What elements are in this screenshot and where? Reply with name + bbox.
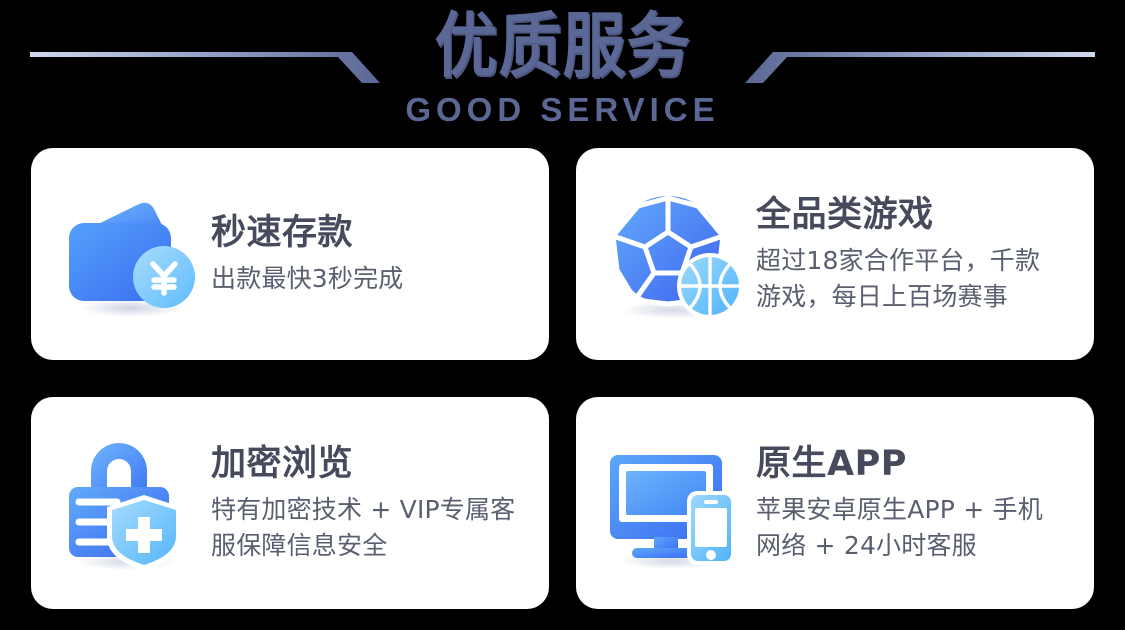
- lock-shield-icon: [57, 429, 205, 577]
- page-header: 优质服务 GOOD SERVICE: [0, 0, 1125, 142]
- card-text-block: 原生APP 苹果安卓原生APP + 手机 网络 + 24小时客服: [750, 442, 1082, 564]
- card-subtitle-line: 出款最快3秒完成: [211, 261, 537, 297]
- card-title: 秒速存款: [211, 211, 537, 255]
- card-subtitle: 出款最快3秒完成: [211, 261, 537, 297]
- card-subtitle-line: 服保障信息安全: [211, 528, 537, 564]
- card-text-block: 加密浏览 特有加密技术 + VIP专属客 服保障信息安全: [205, 442, 537, 564]
- card-subtitle-line: 超过18家合作平台，千款: [756, 243, 1082, 279]
- soccer-basketball-icon: [602, 180, 750, 328]
- card-title: 原生APP: [756, 442, 1082, 486]
- service-card-native-app[interactable]: 原生APP 苹果安卓原生APP + 手机 网络 + 24小时客服: [576, 397, 1094, 609]
- card-subtitle: 苹果安卓原生APP + 手机 网络 + 24小时客服: [756, 492, 1082, 564]
- card-text-block: 秒速存款 出款最快3秒完成: [205, 211, 537, 297]
- service-card-deposit[interactable]: 秒速存款 出款最快3秒完成: [31, 148, 549, 360]
- page-title-en: GOOD SERVICE: [0, 92, 1125, 128]
- wallet-yen-icon: [57, 180, 205, 328]
- page-title-cn: 优质服务: [0, 4, 1125, 89]
- card-subtitle: 特有加密技术 + VIP专属客 服保障信息安全: [211, 492, 537, 564]
- card-subtitle-line: 网络 + 24小时客服: [756, 528, 1082, 564]
- card-text-block: 全品类游戏 超过18家合作平台，千款 游戏，每日上百场赛事: [750, 193, 1082, 315]
- service-card-grid: 秒速存款 出款最快3秒完成: [31, 148, 1094, 609]
- service-card-games[interactable]: 全品类游戏 超过18家合作平台，千款 游戏，每日上百场赛事: [576, 148, 1094, 360]
- header-title-block: 优质服务 GOOD SERVICE: [0, 4, 1125, 128]
- card-subtitle-line: 苹果安卓原生APP + 手机: [756, 492, 1082, 528]
- card-subtitle-line: 游戏，每日上百场赛事: [756, 279, 1082, 315]
- card-title: 加密浏览: [211, 442, 537, 486]
- card-subtitle: 超过18家合作平台，千款 游戏，每日上百场赛事: [756, 243, 1082, 315]
- card-title: 全品类游戏: [756, 193, 1082, 237]
- service-card-encryption[interactable]: 加密浏览 特有加密技术 + VIP专属客 服保障信息安全: [31, 397, 549, 609]
- card-subtitle-line: 特有加密技术 + VIP专属客: [211, 492, 537, 528]
- monitor-phone-icon: [602, 429, 750, 577]
